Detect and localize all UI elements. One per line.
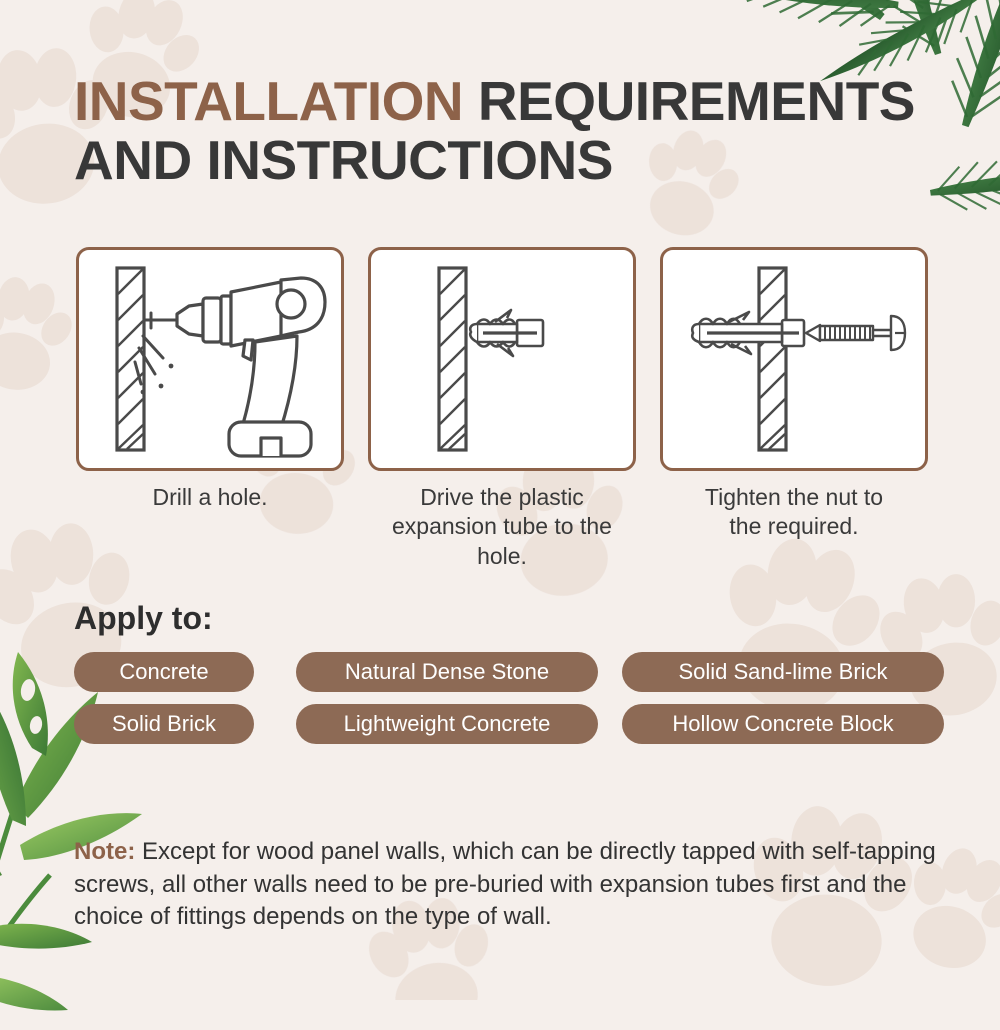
title-line-1-rest: REQUIREMENTS (463, 70, 915, 132)
pill-solid-brick[interactable]: Solid Brick (74, 704, 254, 744)
panel-drill-a-hole (76, 247, 344, 471)
panel-captions: Drill a hole. Drive the plasticexpansion… (76, 483, 928, 571)
wall-slab (439, 268, 466, 450)
title-accent-word: INSTALLATION (74, 70, 463, 132)
drill-into-wall-icon (85, 256, 335, 462)
wall-slab (759, 268, 786, 450)
pill-hollow-concrete-block[interactable]: Hollow Concrete Block (622, 704, 944, 744)
apply-to-heading: Apply to: (74, 600, 213, 637)
title-line-2: AND INSTRUCTIONS (74, 131, 954, 190)
apply-to-pill-list: Concrete Natural Dense Stone Solid Sand-… (74, 652, 944, 756)
pill-solid-sand-lime-brick[interactable]: Solid Sand-lime Brick (622, 652, 944, 692)
drill-bit (145, 313, 177, 328)
wall-slab (117, 268, 144, 450)
caption-panel-1: Drill a hole. (76, 483, 344, 571)
panel-drive-expansion-tube (368, 247, 636, 471)
screw-into-anchor-icon (669, 256, 919, 462)
screw (806, 316, 905, 350)
page-title: INSTALLATION REQUIREMENTS AND INSTRUCTIO… (74, 72, 954, 191)
pill-concrete[interactable]: Concrete (74, 652, 254, 692)
expansion-tube-at-wall-icon (377, 256, 627, 462)
note-text: Except for wood panel walls, which can b… (74, 838, 936, 930)
note-block: Note: Except for wood panel walls, which… (74, 836, 946, 934)
pill-row-2: Solid Brick Lightweight Concrete Hollow … (74, 704, 944, 744)
pill-lightweight-concrete[interactable]: Lightweight Concrete (296, 704, 598, 744)
caption-panel-2: Drive the plasticexpansion tube to the h… (368, 483, 636, 571)
note-label: Note: (74, 838, 135, 865)
panel-tighten-the-nut (660, 247, 928, 471)
pill-natural-dense-stone[interactable]: Natural Dense Stone (296, 652, 598, 692)
caption-panel-3: Tighten the nut tothe required. (660, 483, 928, 571)
plastic-expansion-tube (470, 310, 543, 356)
title-line-1: INSTALLATION REQUIREMENTS (74, 72, 954, 131)
instruction-panels (76, 247, 928, 471)
power-drill (177, 278, 325, 456)
pill-row-1: Concrete Natural Dense Stone Solid Sand-… (74, 652, 944, 692)
